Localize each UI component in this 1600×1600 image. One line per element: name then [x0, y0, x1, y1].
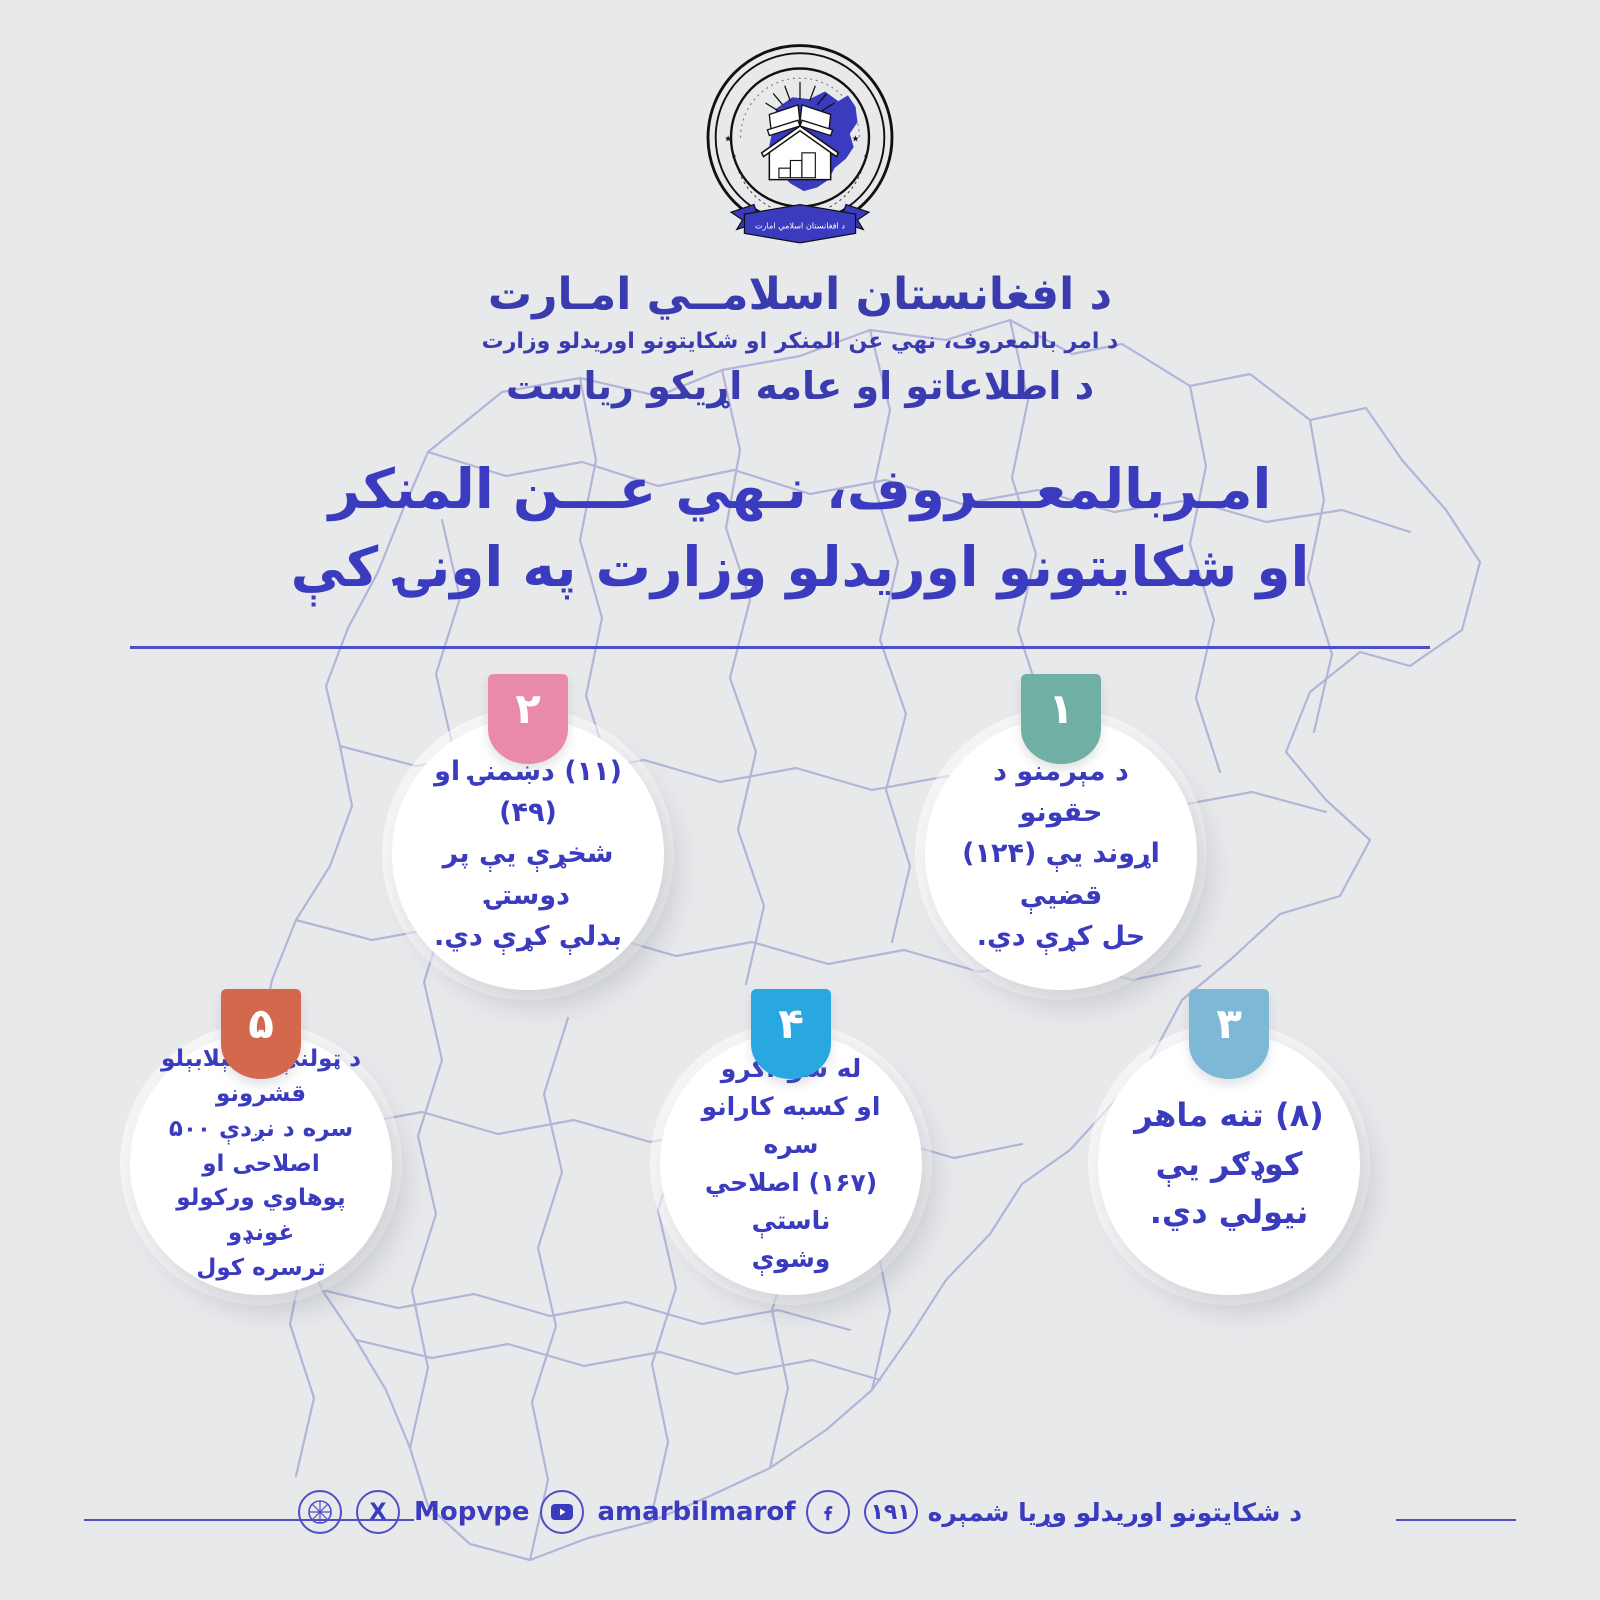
stat-bubble-5[interactable]: ۵ د ټولنې له بېلابېلو قشرونو سره د نږدې …: [130, 1033, 392, 1295]
stat-badge-1: ۱: [1021, 674, 1101, 764]
stat-bubble-2[interactable]: ۲ (۱۱) دښمنۍ او (۴۹) شخړې یې پر دوستۍ بد…: [392, 718, 664, 990]
facebook-group[interactable]: amarbilmarof: [598, 1490, 850, 1534]
hotline-label: د شکایتونو اوریدلو وړیا شمېره: [928, 1498, 1302, 1527]
stat-badge-4: ۴: [751, 989, 831, 1079]
stat-node-3[interactable]: ۳ (۸) تنه ماهر کوډګر یې نیولي دي.: [1098, 1033, 1360, 1295]
stat-bubble-3[interactable]: ۳ (۸) تنه ماهر کوډګر یې نیولي دي.: [1098, 1033, 1360, 1295]
x-twitter-icon[interactable]: X: [356, 1490, 400, 1534]
stat-text-1: د مېرمنو د حقونو اړوند یې (۱۲۴) قضیې حل …: [925, 751, 1197, 956]
dribbble-icon[interactable]: [298, 1490, 342, 1534]
stat-node-4[interactable]: ۴ له سوداګرو او کسبه کارانو سره (۱۶۷) اص…: [660, 1033, 922, 1295]
youtube-icon[interactable]: [540, 1490, 584, 1534]
stat-badge-3: ۳: [1189, 989, 1269, 1079]
stat-node-1[interactable]: ۱ د مېرمنو د حقونو اړوند یې (۱۲۴) قضیې ح…: [925, 718, 1197, 990]
stat-text-4: له سوداګرو او کسبه کارانو سره (۱۶۷) اصلا…: [660, 1050, 922, 1278]
stat-text-2: (۱۱) دښمنۍ او (۴۹) شخړې یې پر دوستۍ بدلې…: [392, 751, 664, 956]
hotline-number: ۱۹۱: [864, 1490, 918, 1534]
hotline-group: د شکایتونو اوریدلو وړیا شمېره ۱۹۱: [864, 1490, 1302, 1534]
footer: د شکایتونو اوریدلو وړیا شمېره ۱۹۱ amarbi…: [0, 1490, 1600, 1534]
stat-badge-2: ۲: [488, 674, 568, 764]
stat-node-5[interactable]: ۵ د ټولنې له بېلابېلو قشرونو سره د نږدې …: [130, 1033, 392, 1295]
youtube-group[interactable]: Mopvpe: [414, 1490, 584, 1534]
stat-node-2[interactable]: ۲ (۱۱) دښمنۍ او (۴۹) شخړې یې پر دوستۍ بد…: [392, 718, 664, 990]
stat-bubble-1[interactable]: ۱ د مېرمنو د حقونو اړوند یې (۱۲۴) قضیې ح…: [925, 718, 1197, 990]
infographic-root: ★ ★: [0, 0, 1600, 1600]
youtube-handle[interactable]: Mopvpe: [414, 1497, 530, 1527]
stat-text-3: (۸) تنه ماهر کوډګر یې نیولي دي.: [1108, 1091, 1349, 1237]
stats-circle-group: ۱ د مېرمنو د حقونو اړوند یې (۱۲۴) قضیې ح…: [0, 0, 1600, 1600]
stat-badge-5: ۵: [221, 989, 301, 1079]
stat-bubble-4[interactable]: ۴ له سوداګرو او کسبه کارانو سره (۱۶۷) اص…: [660, 1033, 922, 1295]
facebook-handle[interactable]: amarbilmarof: [598, 1497, 796, 1527]
facebook-icon[interactable]: [806, 1490, 850, 1534]
